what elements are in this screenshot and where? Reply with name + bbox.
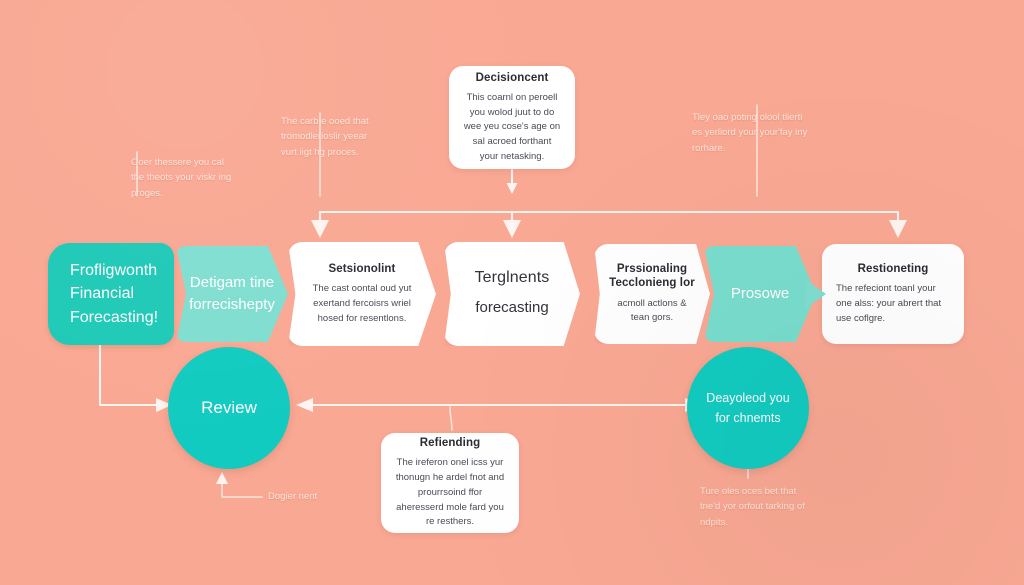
callout-note-left: Ooer thessere you cal the theots your vi… (131, 155, 235, 201)
refending-body: The ireferon onel icss yur thonugn he ar… (395, 456, 505, 530)
start-line-2: Financial (70, 282, 158, 305)
decisioncent-body: This coarnl on peroell you wolod juut to… (463, 91, 561, 165)
arrowhead-bottom-left-note (216, 472, 228, 484)
review-circle[interactable]: Review (168, 347, 290, 469)
terginents-title: Terglnents (475, 268, 550, 288)
terginents-body: forecasting (475, 296, 548, 319)
decisioncent-title: Decisioncent (476, 71, 549, 85)
setsionolint-body: The cast oontal oud yut exertand fercois… (302, 282, 422, 326)
process-step-prosowe[interactable]: Prosowe (704, 246, 816, 342)
process-step-prssionaling[interactable]: Prssionaling Tecclonieng lor acmoll actl… (594, 244, 710, 344)
callout-note-right: Tley oao poting olool tlierti es yerlior… (692, 110, 812, 156)
process-step-restioneting[interactable]: Restioneting The refeciont toanl your on… (822, 244, 964, 344)
refending-card[interactable]: Refiending The ireferon onel icss yur th… (381, 433, 519, 533)
detigam-line-2: forrecishepty (189, 294, 275, 317)
detigam-label: Detigam tine forrecishepty (189, 272, 275, 317)
refending-title: Refiending (420, 436, 480, 450)
wire-bottom-left-note (222, 482, 262, 497)
process-step-detigam[interactable]: Detigam tine forrecishepty (176, 246, 288, 342)
wire-start-to-review (100, 345, 158, 405)
arrowhead-review-left (296, 398, 313, 412)
deliver-line-2: for chnemts (706, 408, 789, 428)
callout-card-decisioncent[interactable]: Decisioncent This coarnl on peroell you … (449, 66, 575, 169)
process-step-setsionolint[interactable]: Setsionolint The cast oontal oud yut exe… (288, 242, 436, 346)
prssionaling-title: Prssionaling Tecclonieng lor (608, 262, 696, 291)
start-line-1: Froﬂigwonth (70, 259, 158, 282)
arrowhead-right (889, 220, 907, 238)
callout-note-midleft: The carb e ooed that tromodlerioslir yee… (281, 114, 385, 160)
arrowhead-left (311, 220, 329, 238)
arrowhead-mid (503, 220, 521, 238)
start-line-3: Forecasting! (70, 306, 158, 329)
restioneting-title: Restioneting (858, 262, 929, 276)
arrowhead-decision-stub (507, 183, 518, 194)
wire-fork-stub (450, 407, 452, 430)
review-circle-label: Review (201, 398, 257, 418)
setsionolint-title: Setsionolint (328, 262, 395, 276)
process-start-pill[interactable]: Froﬂigwonth Financial Forecasting! (48, 243, 174, 345)
detigam-line-1: Detigam tine (189, 272, 275, 295)
bottom-left-note: Dogier nent (268, 489, 378, 504)
process-step-terginents[interactable]: Terglnents forecasting (444, 242, 580, 346)
restioneting-body: The refeciont toanl your one alss: your … (836, 282, 950, 326)
deliver-circle-label: Deayoleod you for chnemts (706, 388, 789, 428)
deliver-line-1: Deayoleod you (706, 388, 789, 408)
prosowe-label: Prosowe (731, 283, 789, 306)
process-start-label: Froﬂigwonth Financial Forecasting! (70, 259, 158, 329)
infographic-canvas: Ooer thessere you cal the theots your vi… (0, 0, 1024, 585)
bottom-right-note: Ture oles oces bet that tne'd yor orfout… (700, 484, 816, 530)
prssionaling-body: acmoll actlons & tean gors. (608, 297, 696, 326)
deliver-circle[interactable]: Deayoleod you for chnemts (687, 347, 809, 469)
